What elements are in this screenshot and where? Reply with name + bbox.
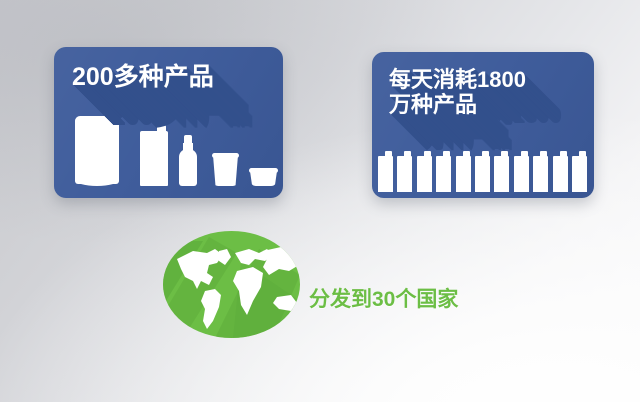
carton-row-icon: [376, 150, 590, 192]
daily-consumption-panel-title: 每天消耗1800 万种产品: [389, 68, 579, 117]
carton-icon: [456, 156, 471, 192]
infographic-canvas: 200多种产品 每天消耗1800 万种产品: [0, 0, 640, 402]
carton-icon: [494, 156, 509, 192]
carton-icon: [553, 156, 568, 192]
carton-icon: [475, 156, 490, 192]
daily-consumption-panel: 每天消耗1800 万种产品: [372, 52, 594, 198]
carton-icon: [514, 156, 529, 192]
products-panel: 200多种产品: [54, 47, 283, 198]
carton-icon: [572, 156, 587, 192]
globe-icon: [163, 231, 300, 338]
products-panel-title: 200多种产品: [72, 63, 214, 91]
carton-icon: [417, 156, 432, 192]
carton-icon: [533, 156, 548, 192]
carton-icon: [436, 156, 451, 192]
globe-caption: 分发到30个国家: [309, 283, 458, 313]
carton-icon: [397, 156, 412, 192]
carton-icon: [378, 156, 393, 192]
